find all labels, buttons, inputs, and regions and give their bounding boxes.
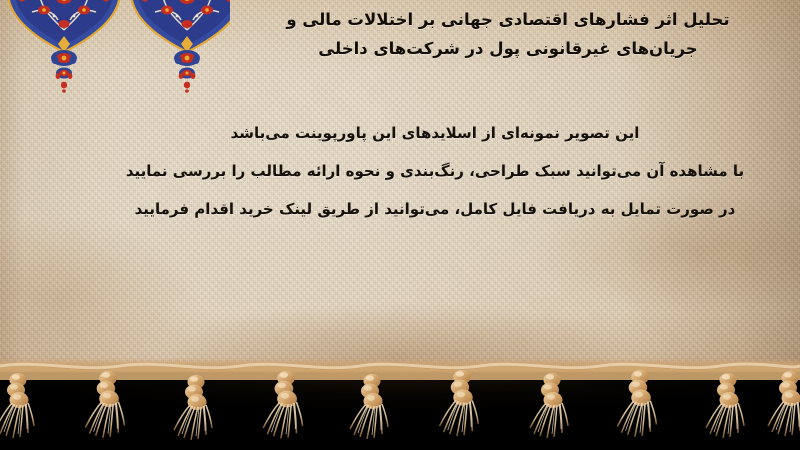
slide-body-line-3: در صورت تمایل به دریافت فایل کامل، می‌تو… (90, 190, 780, 228)
slide-title-line-1: تحلیل اثر فشارهای اقتصادی جهانی بر اختلا… (238, 5, 778, 34)
persian-medallion-ornament (0, 0, 230, 94)
slide-title-line-2: جریان‌های غیرقانونی پول در شرکت‌های داخل… (238, 34, 778, 63)
slide-body: این تصویر نمونه‌ای از اسلایدهای این پاور… (90, 114, 780, 228)
slide-body-line-1: این تصویر نمونه‌ای از اسلایدهای این پاور… (90, 114, 780, 152)
slide-body-line-2: با مشاهده آن می‌توانید سبک طراحی، رنگ‌بن… (90, 152, 780, 190)
slide-title: تحلیل اثر فشارهای اقتصادی جهانی بر اختلا… (238, 5, 778, 63)
presentation-slide: تحلیل اثر فشارهای اقتصادی جهانی بر اختلا… (0, 0, 800, 450)
carpet-tassel-fringe (0, 350, 800, 450)
